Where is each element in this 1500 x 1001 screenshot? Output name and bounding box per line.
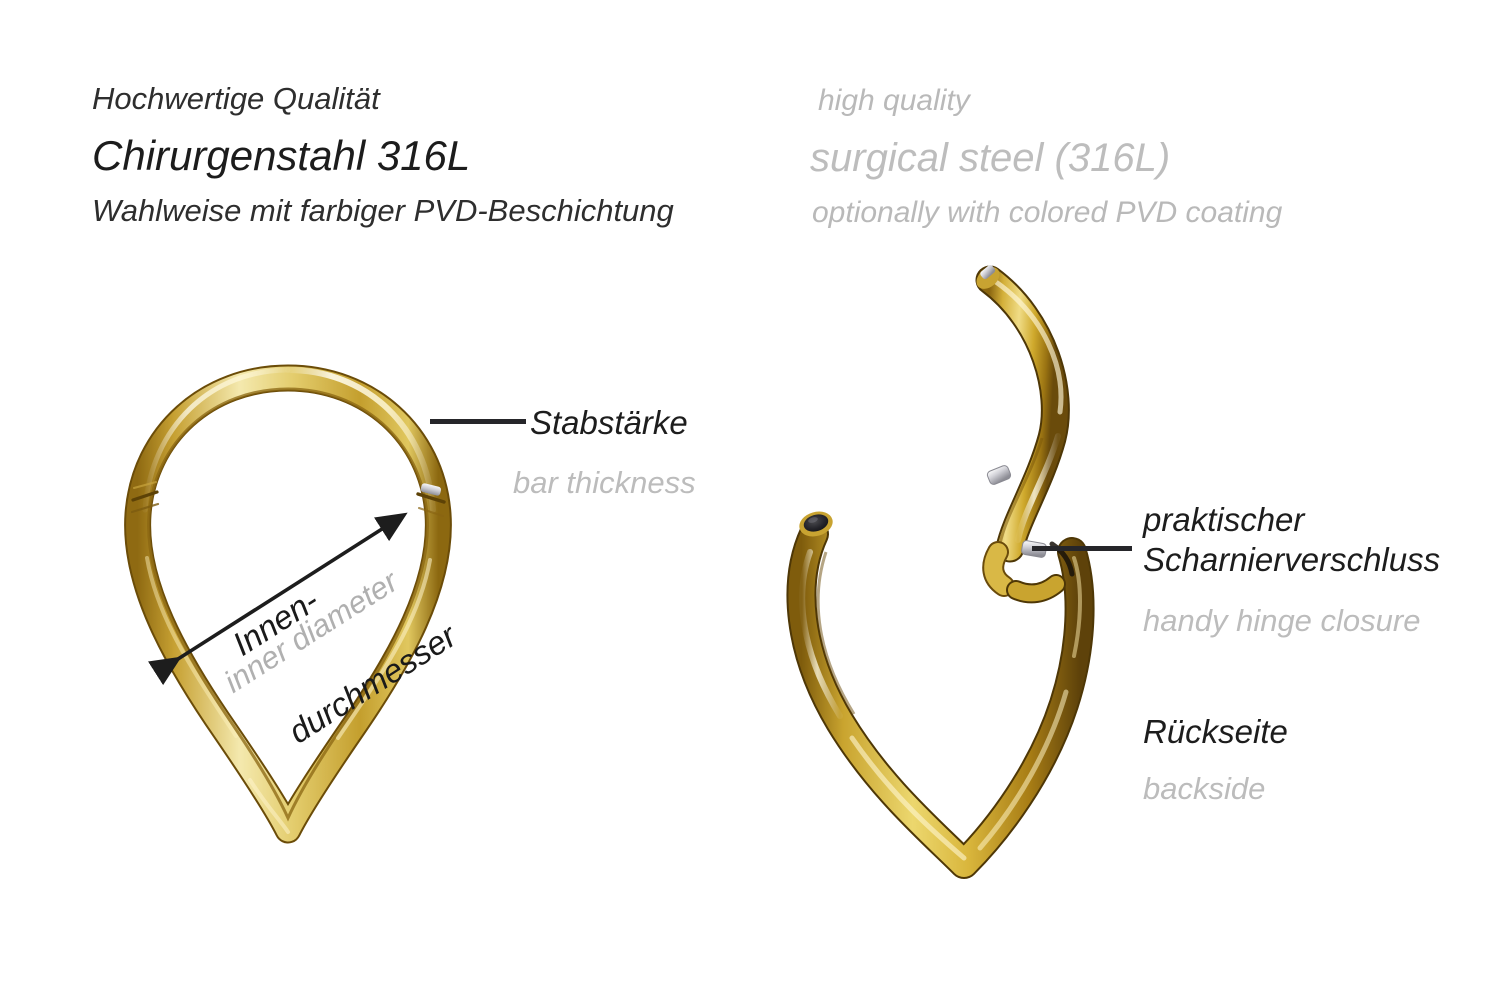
- diameter-arrow-line: [178, 515, 404, 659]
- inner-diameter-arrow: [160, 495, 420, 675]
- hinge-label-german-line2: Scharnierverschluss: [1143, 540, 1440, 580]
- hinge-label-german-line1: praktischer: [1143, 500, 1440, 540]
- hinged-flap-body: [990, 280, 1055, 548]
- header-german-line3: Wahlweise mit farbiger PVD-Beschichtung: [92, 194, 674, 229]
- bar-thickness-label-english: bar thickness: [513, 466, 696, 501]
- header-english-line2: surgical steel (316L): [810, 136, 1170, 181]
- header-german-line1: Hochwertige Qualität: [92, 82, 380, 117]
- backside-label-german: Rückseite: [1143, 714, 1288, 751]
- product-infographic: Hochwertige Qualität Chirurgenstahl 316L…: [0, 0, 1500, 1001]
- header-english-line1: high quality: [818, 84, 970, 118]
- header-german-line2: Chirurgenstahl 316L: [92, 132, 470, 179]
- backside-label-english: backside: [1143, 772, 1265, 807]
- bar-thickness-leader-line: [430, 419, 526, 424]
- hinge-label-english: handy hinge closure: [1143, 604, 1420, 639]
- header-english-line3: optionally with colored PVD coating: [812, 196, 1282, 230]
- hinge-knuckle-upper-body: [993, 552, 1004, 586]
- opened-ring-illustration: [752, 252, 1092, 892]
- hinge-label-german: praktischer Scharnierverschluss: [1143, 500, 1440, 581]
- hinge-pin-upper: [986, 464, 1012, 485]
- hinge-leader-line: [1032, 546, 1132, 551]
- bar-thickness-label-german: Stabstärke: [530, 405, 688, 442]
- hinge-knuckle-lower-body: [1016, 584, 1056, 593]
